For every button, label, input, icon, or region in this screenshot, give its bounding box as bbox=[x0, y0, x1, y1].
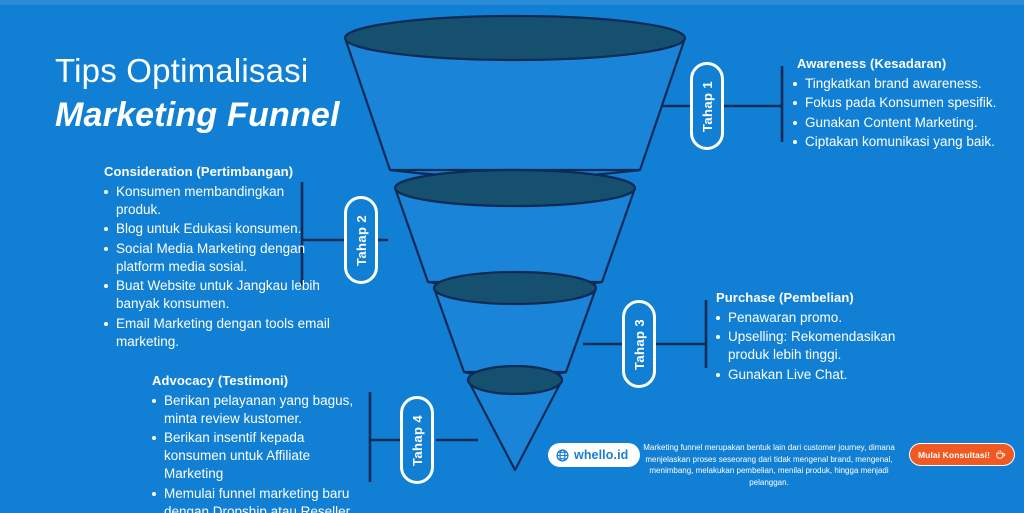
stage-text-advocacy: Advocacy (Testimoni) Berikan pelayanan y… bbox=[152, 373, 362, 513]
page-title: Tips Optimalisasi Marketing Funnel bbox=[55, 52, 385, 136]
list-item: Email Marketing dengan tools email marke… bbox=[104, 315, 332, 351]
footer-note: Marketing funnel merupakan bentuk lain d… bbox=[643, 442, 895, 488]
funnel-segment-2-top bbox=[395, 170, 635, 206]
list-item: Social Media Marketing dengan platform m… bbox=[104, 240, 332, 276]
stage-text-purchase: Purchase (Pembelian) Penawaran promo. Up… bbox=[716, 290, 926, 385]
funnel-segment-2-bottom bbox=[428, 282, 602, 289]
list-item: Upselling: Rekomendasikan produk lebih t… bbox=[716, 328, 926, 364]
stage-list-purchase: Penawaran promo. Upselling: Rekomendasik… bbox=[716, 309, 926, 384]
start-consultation-button[interactable]: Mulai Konsultasi! bbox=[909, 443, 1015, 466]
top-strip bbox=[0, 0, 1024, 5]
stage-badge-1[interactable]: Tahap 1 bbox=[690, 62, 724, 150]
list-item: Buat Website untuk Jangkau lebih banyak … bbox=[104, 277, 332, 313]
list-item: Ciptakan komunikasi yang baik. bbox=[793, 133, 1008, 151]
whello-logo-text: whello.id bbox=[574, 448, 628, 462]
stage-list-awareness: Tingkatkan brand awareness. Fokus pada K… bbox=[793, 75, 1008, 151]
funnel-segment-3-top bbox=[434, 272, 596, 304]
stage-badge-1-label: Tahap 1 bbox=[700, 81, 715, 132]
start-consultation-label: Mulai Konsultasi! bbox=[918, 450, 990, 460]
stage-badge-4[interactable]: Tahap 4 bbox=[400, 396, 434, 484]
stage-heading-purchase: Purchase (Pembelian) bbox=[716, 290, 926, 305]
list-item: Konsumen membandingkan produk. bbox=[104, 183, 332, 219]
stage-badge-3[interactable]: Tahap 3 bbox=[622, 300, 656, 388]
title-line-1: Tips Optimalisasi bbox=[55, 52, 385, 91]
list-item: Berikan insentif kepada konsumen untuk A… bbox=[152, 429, 362, 483]
globe-icon bbox=[556, 449, 569, 462]
coffee-cup-icon bbox=[995, 449, 1006, 460]
stage-badge-3-label: Tahap 3 bbox=[632, 319, 647, 370]
stage-heading-consideration: Consideration (Pertimbangan) bbox=[104, 164, 332, 179]
stage-text-consideration: Consideration (Pertimbangan) Konsumen me… bbox=[104, 164, 332, 352]
funnel-segment-3-bottom bbox=[464, 372, 566, 378]
stage-list-advocacy: Berikan pelayanan yang bagus, minta revi… bbox=[152, 392, 362, 513]
infographic-canvas: Tips Optimalisasi Marketing Funnel bbox=[0, 0, 1024, 513]
stage-badge-2[interactable]: Tahap 2 bbox=[344, 196, 378, 284]
list-item: Memulai funnel marketing baru dengan Dro… bbox=[152, 485, 362, 513]
stage-badge-2-label: Tahap 2 bbox=[354, 215, 369, 266]
title-line-2: Marketing Funnel bbox=[55, 95, 385, 136]
stage-heading-advocacy: Advocacy (Testimoni) bbox=[152, 373, 362, 388]
list-item: Fokus pada Konsumen spesifik. bbox=[793, 94, 1008, 112]
list-item: Tingkatkan brand awareness. bbox=[793, 75, 1008, 93]
funnel-segment-3-body bbox=[434, 288, 596, 372]
funnel-segment-1-body bbox=[345, 38, 685, 170]
list-item: Penawaran promo. bbox=[716, 309, 926, 327]
stage-heading-awareness: Awareness (Kesadaran) bbox=[797, 56, 1008, 71]
whello-logo[interactable]: whello.id bbox=[548, 443, 640, 467]
list-item: Blog untuk Edukasi konsumen. bbox=[104, 220, 332, 238]
funnel-segment-1-top bbox=[345, 16, 685, 60]
stage-text-awareness: Awareness (Kesadaran) Tingkatkan brand a… bbox=[793, 56, 1008, 153]
funnel-segment-1-bottom bbox=[390, 170, 640, 178]
list-item: Gunakan Live Chat. bbox=[716, 366, 926, 384]
stage-list-consideration: Konsumen membandingkan produk. Blog untu… bbox=[104, 183, 332, 351]
funnel-segment-2-body bbox=[395, 188, 635, 282]
list-item: Berikan pelayanan yang bagus, minta revi… bbox=[152, 392, 362, 428]
stage-badge-4-label: Tahap 4 bbox=[410, 415, 425, 466]
funnel-segment-4-top bbox=[468, 366, 562, 394]
list-item: Gunakan Content Marketing. bbox=[793, 114, 1008, 132]
